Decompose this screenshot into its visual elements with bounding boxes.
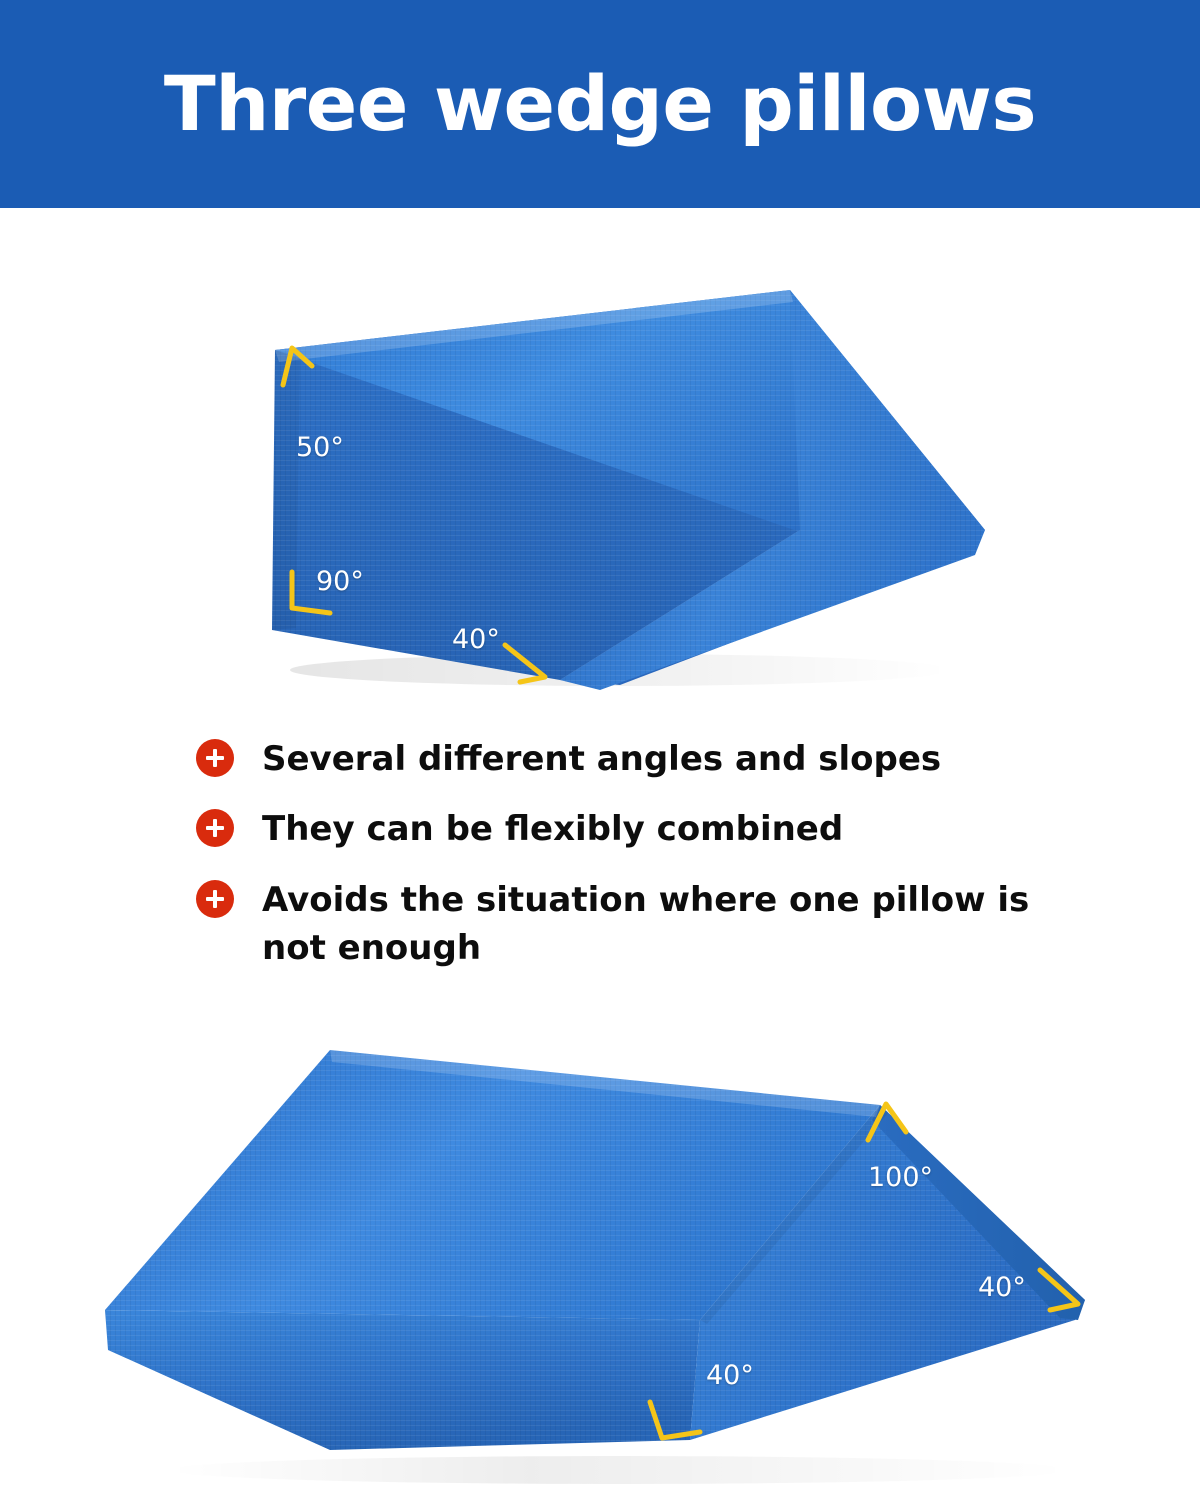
wedge-left-edge-shade [272, 350, 300, 630]
plus-circle-icon [196, 880, 234, 918]
left-wedge-front-fabric [105, 1310, 700, 1450]
feature-text: Several different angles and slopes [262, 735, 941, 783]
angle-label-50: 50° [296, 432, 344, 463]
plus-circle-icon [196, 809, 234, 847]
angle-label-40-bottom: 40° [706, 1360, 754, 1391]
list-item: They can be flexibly combined [196, 805, 1076, 853]
single-wedge-pillow-image: 50° 90° 40° [0, 230, 1200, 700]
plus-circle-icon [196, 739, 234, 777]
angle-label-40-front: 40° [452, 624, 500, 655]
angle-label-40-right: 40° [978, 1272, 1026, 1303]
feature-list: Several different angles and slopes They… [196, 735, 1076, 994]
angle-label-90: 90° [316, 566, 364, 597]
drop-shadow [170, 1456, 1070, 1484]
angle-label-100: 100° [868, 1162, 933, 1193]
feature-text: Avoids the situation where one pillow is… [262, 876, 1062, 973]
page-title: Three wedge pillows [164, 66, 1036, 142]
list-item: Avoids the situation where one pillow is… [196, 876, 1076, 973]
double-wedge-pillow-image: 100° 40° 40° [0, 1020, 1200, 1490]
feature-text: They can be flexibly combined [262, 805, 843, 853]
double-wedge-illustration [0, 1020, 1200, 1490]
header-banner: Three wedge pillows [0, 0, 1200, 208]
list-item: Several different angles and slopes [196, 735, 1076, 783]
single-wedge-illustration [0, 230, 1200, 700]
